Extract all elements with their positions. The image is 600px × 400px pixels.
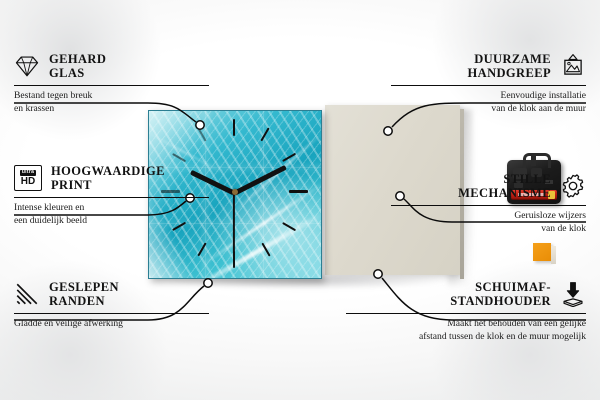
hour-tick-4 xyxy=(282,222,296,232)
hour-tick-5 xyxy=(261,242,271,256)
callout-title-line1: GESLEPEN xyxy=(49,280,119,294)
callout-title-line2: PRINT xyxy=(51,178,165,192)
foam-spacer-side xyxy=(551,246,556,264)
ultra-hd-icon: ultra HD xyxy=(14,165,42,191)
clock-minute-hand xyxy=(233,165,287,195)
callout-gehard-glas: GEHARD GLAS Bestand tegen breuk en krass… xyxy=(14,52,209,116)
callout-title: STILLE MECHANISME xyxy=(458,172,551,201)
hd-label: HD xyxy=(21,177,35,187)
hour-tick-3 xyxy=(289,190,308,193)
hanging-hook-icon xyxy=(523,153,551,168)
callout-title-line1: HOOGWAARDIGE xyxy=(51,164,165,178)
callout-divider xyxy=(14,85,209,87)
callout-sub-line2: en krassen xyxy=(14,103,209,116)
callout-title: GESLEPEN RANDEN xyxy=(49,280,119,309)
press-down-pad-icon xyxy=(560,281,586,307)
callout-sub-line1: Eenvoudige installatie xyxy=(391,90,586,103)
bevelled-edges-icon xyxy=(14,281,40,307)
callout-divider xyxy=(391,85,586,87)
gear-icon xyxy=(560,173,586,199)
callout-sub-line1: Maakt het behouden van een gelijke xyxy=(346,318,586,331)
callout-sub-line1: Geruisloze wijzers xyxy=(391,210,586,223)
callout-head: STILLE MECHANISME xyxy=(391,172,586,201)
hour-tick-1 xyxy=(260,127,270,141)
callout-title-line2: GLAS xyxy=(49,66,106,80)
callout-title-line2: RANDEN xyxy=(49,294,119,308)
clock-centre-hub xyxy=(232,189,238,195)
callout-sub-line2: afstand tussen de klok en de muur mogeli… xyxy=(346,331,586,344)
callout-subtitle: Eenvoudige installatie van de klok aan d… xyxy=(391,90,586,116)
callout-title-line2: MECHANISME xyxy=(458,186,551,200)
callout-head: DUURZAME HANDGREEP xyxy=(391,52,586,81)
callout-geslepen-randen: GESLEPEN RANDEN Gladde en veilige afwerk… xyxy=(14,280,209,331)
callout-divider xyxy=(14,197,209,199)
callout-subtitle: Maakt het behouden van een gelijke afsta… xyxy=(346,318,586,344)
callout-title-line1: DUURZAME xyxy=(468,52,551,66)
callout-sub-line1: Bestand tegen breuk xyxy=(14,90,209,103)
callout-sub-line2: van de klok aan de muur xyxy=(391,103,586,116)
callout-schuimaf-standhouder: SCHUIMAF- STANDHOUDER Maakt het behouden… xyxy=(346,280,586,344)
hour-tick-12 xyxy=(233,119,235,136)
callout-sub-line1: Intense kleuren en xyxy=(14,202,209,215)
callout-divider xyxy=(346,313,586,315)
mechanism-shaft xyxy=(531,156,536,166)
callout-title: HOOGWAARDIGE PRINT xyxy=(51,164,165,193)
foam-spacer xyxy=(533,243,551,261)
callout-subtitle: Gladde en veilige afwerking xyxy=(14,318,209,331)
callout-title-line1: GEHARD xyxy=(49,52,106,66)
callout-stille-mechanisme: STILLE MECHANISME Geruisloze wijzers van… xyxy=(391,172,586,236)
callout-title-line1: STILLE xyxy=(458,172,551,186)
callout-title-line2: STANDHOUDER xyxy=(450,294,551,308)
callout-title: SCHUIMAF- STANDHOUDER xyxy=(450,280,551,309)
callout-head: SCHUIMAF- STANDHOUDER xyxy=(346,280,586,309)
callout-sub-line1: Gladde en veilige afwerking xyxy=(14,318,209,331)
callout-title-line2: HANDGREEP xyxy=(468,66,551,80)
hour-tick-7 xyxy=(197,242,207,256)
hour-tick-11 xyxy=(197,127,207,141)
diamond-icon xyxy=(14,53,40,79)
callout-subtitle: Geruisloze wijzers van de klok xyxy=(391,210,586,236)
callout-sub-line2: een duidelijk beeld xyxy=(14,215,209,228)
callout-title-line1: SCHUIMAF- xyxy=(450,280,551,294)
callout-head: ultra HD HOOGWAARDIGE PRINT xyxy=(14,164,209,193)
callout-title: DUURZAME HANDGREEP xyxy=(468,52,551,81)
callout-sub-line2: van de klok xyxy=(391,223,586,236)
callout-head: GEHARD GLAS xyxy=(14,52,209,81)
callout-divider xyxy=(391,205,586,207)
hour-tick-2 xyxy=(282,153,296,163)
framed-picture-icon xyxy=(560,53,586,79)
callout-hoogwaardige-print: ultra HD HOOGWAARDIGE PRINT Intense kleu… xyxy=(14,164,209,228)
product-infographic: GEHARD GLAS Bestand tegen breuk en krass… xyxy=(0,0,600,400)
callout-duurzame-handgreep: DUURZAME HANDGREEP Eenvoudige installati… xyxy=(391,52,586,116)
callout-title: GEHARD GLAS xyxy=(49,52,106,81)
callout-divider xyxy=(14,313,209,315)
clock-second-hand xyxy=(233,192,235,254)
callout-subtitle: Bestand tegen breuk en krassen xyxy=(14,90,209,116)
callout-head: GESLEPEN RANDEN xyxy=(14,280,209,309)
ultra-label: ultra xyxy=(20,170,36,176)
hour-tick-10 xyxy=(172,153,186,163)
callout-subtitle: Intense kleuren en een duidelijk beeld xyxy=(14,202,209,228)
